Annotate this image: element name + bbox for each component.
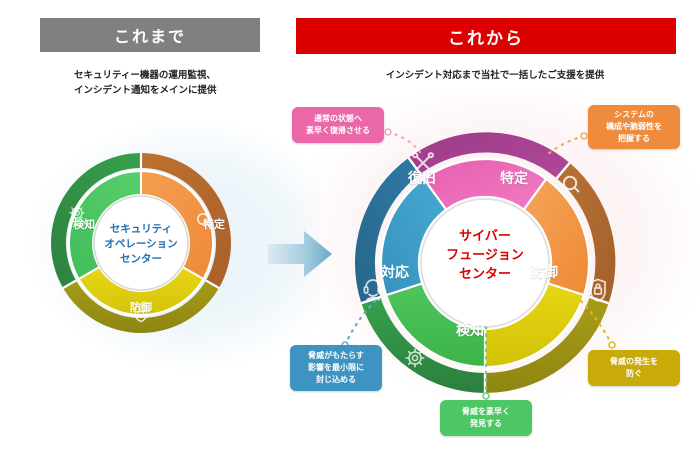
callout-detect-line1: 脅威を素早く — [462, 406, 510, 418]
callout-identify-line1: システムの — [606, 109, 662, 121]
header-before: これまで — [40, 18, 260, 52]
callout-identify[interactable]: システムの 構成や脆弱性を 把握する — [588, 105, 680, 149]
callout-respond-line2: 影響を最小限に — [308, 362, 364, 374]
right-donut-chart — [340, 118, 630, 408]
callout-recover-line2: 素早く復帰させる — [306, 125, 370, 137]
slide-canvas: これまで これから セキュリティー機器の運用監視、 インシデント通知をメインに提… — [0, 0, 700, 454]
callout-identify-line2: 構成や脆弱性を — [606, 121, 662, 133]
subtitle-before-line2: インシデント通知をメインに提供 — [74, 83, 284, 98]
header-after-label: これから — [448, 24, 524, 49]
callout-respond-line1: 脅威がもたらす — [308, 350, 364, 362]
subtitle-after: インシデント対応まで当社で一括したご支援を提供 — [330, 68, 660, 83]
callout-respond-line3: 封じ込める — [308, 374, 364, 386]
callout-detect[interactable]: 脅威を素早く 発見する — [440, 400, 532, 436]
header-before-label: これまで — [114, 23, 186, 47]
callout-identify-line3: 把握する — [606, 133, 662, 145]
transition-arrow — [268, 228, 334, 285]
subtitle-before-line1: セキュリティー機器の運用監視、 — [74, 68, 284, 83]
left-donut-chart — [46, 148, 236, 344]
subtitle-before: セキュリティー機器の運用監視、 インシデント通知をメインに提供 — [74, 68, 284, 98]
callout-recover[interactable]: 通常の状態へ 素早く復帰させる — [292, 107, 384, 143]
callout-respond[interactable]: 脅威がもたらす 影響を最小限に 封じ込める — [290, 345, 382, 391]
callout-protect[interactable]: 脅威の発生を 防ぐ — [588, 350, 680, 386]
callout-protect-line2: 防ぐ — [610, 368, 658, 380]
callout-detect-line2: 発見する — [462, 418, 510, 430]
header-after: これから — [296, 18, 676, 54]
subtitle-after-line1: インシデント対応まで当社で一括したご支援を提供 — [330, 68, 660, 83]
callout-protect-line1: 脅威の発生を — [610, 356, 658, 368]
callout-recover-line1: 通常の状態へ — [306, 113, 370, 125]
